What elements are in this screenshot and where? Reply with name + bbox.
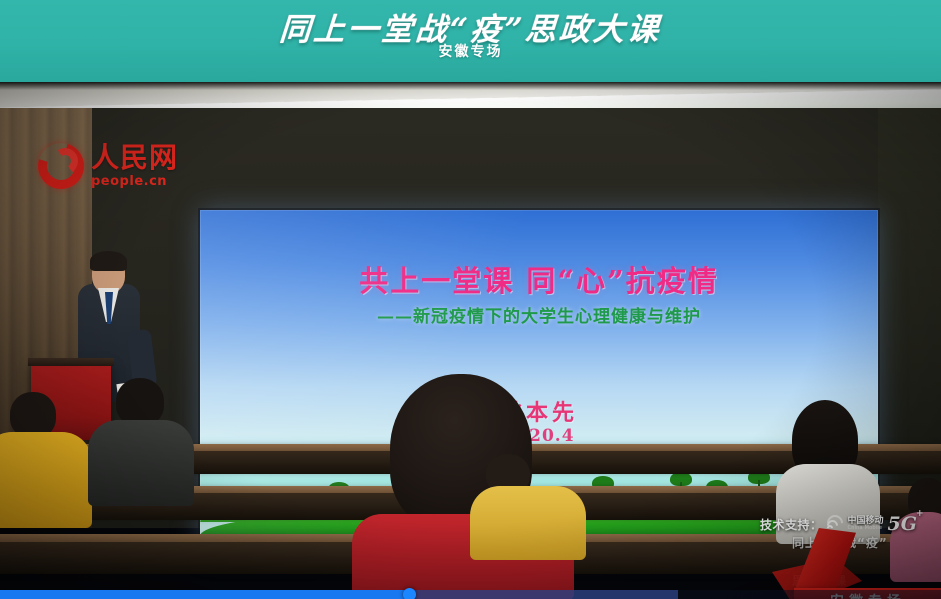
page-header-banner: 同上一堂战“疫”思政大课 安徽专场	[0, 0, 941, 82]
video-progress-bar[interactable]	[0, 590, 941, 599]
program-ribbon-overlay: 同上一堂战“疫” 思政大课 安徽专场	[780, 530, 941, 599]
audience-jacket-yellow	[0, 432, 92, 528]
speaker-hair	[90, 251, 127, 271]
progress-played	[0, 590, 409, 599]
video-player-screenshot: 同上一堂战“疫”思政大课 安徽专场	[0, 0, 941, 599]
watermark-logo-cn: 人民网	[91, 143, 178, 172]
header-dropshadow	[0, 82, 941, 90]
podium-top-surface	[28, 358, 114, 366]
audience-torso	[88, 420, 194, 506]
network-badge-plus: +	[916, 509, 924, 519]
china-mobile-wifi-icon	[827, 518, 844, 531]
peoplecn-swoosh-icon	[38, 143, 84, 189]
watermark-logo-en: people.cn	[91, 174, 178, 189]
video-surface[interactable]: 共上一堂课 同“心”抗疫情 ——新冠疫情下的大学生心理健康与维护 姚本先 202…	[0, 82, 941, 599]
page-subtitle: 安徽专场	[0, 41, 941, 61]
audience-yellow-top	[470, 486, 586, 560]
peoplecn-watermark-logo: 人民网 people.cn	[38, 138, 202, 194]
progress-scrubber-handle[interactable]	[403, 588, 416, 599]
audience-head	[116, 378, 164, 426]
